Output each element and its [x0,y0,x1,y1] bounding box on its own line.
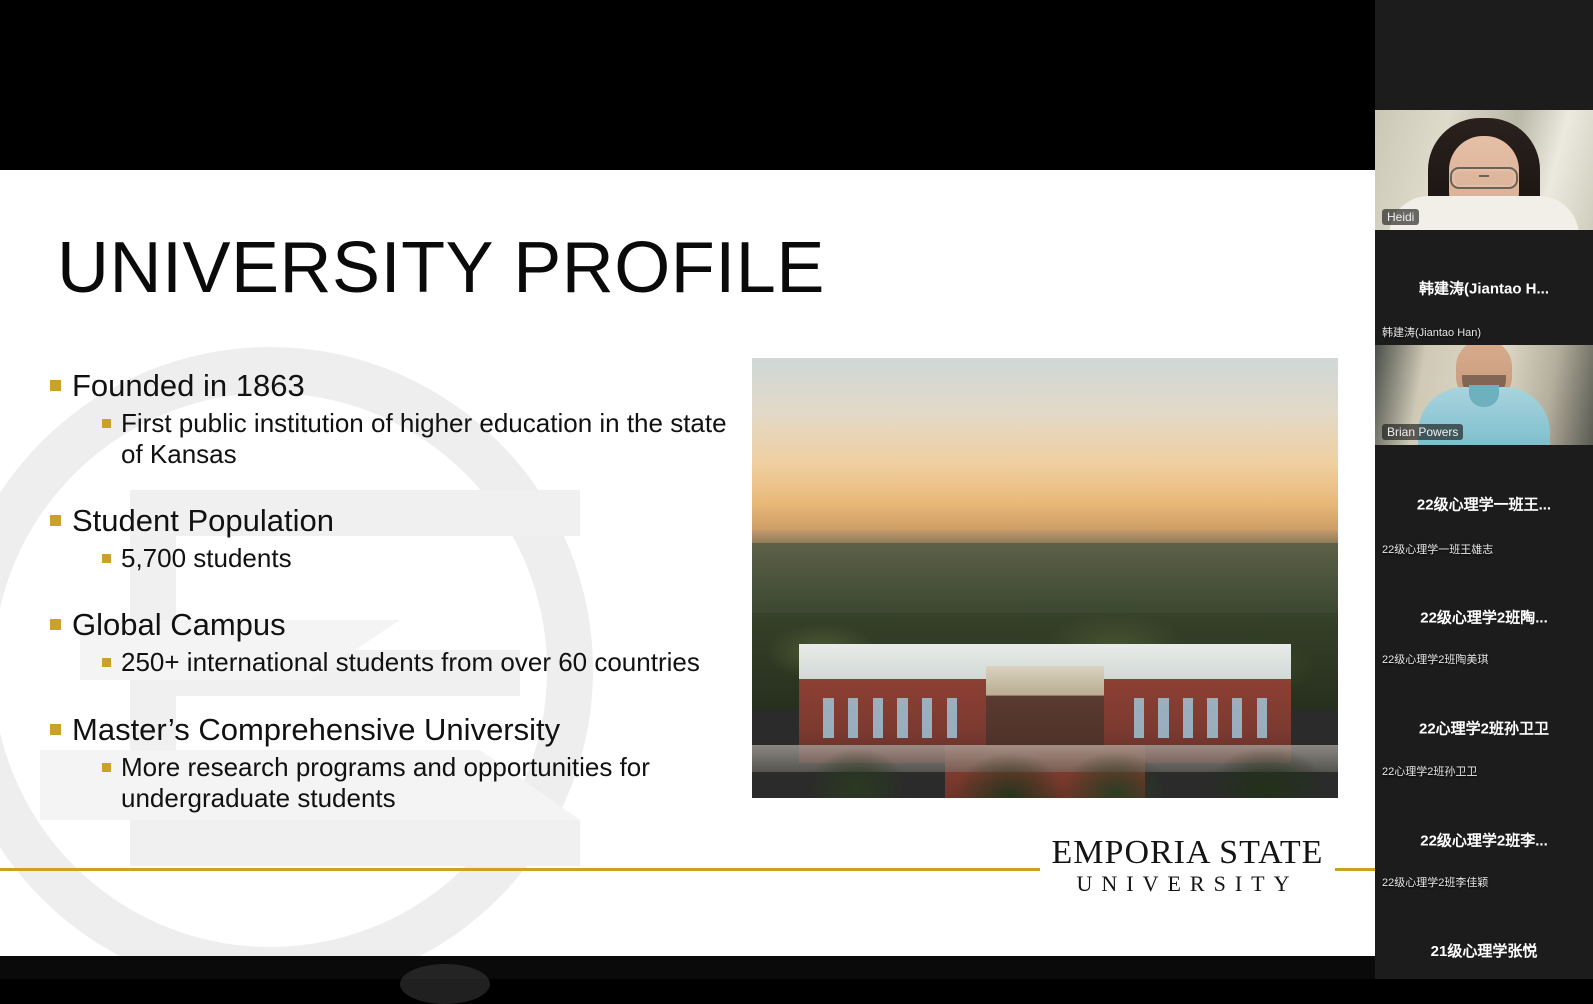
toolbar-hover-pill[interactable] [400,964,490,1004]
bullet-level2: 250+ international students from over 60… [102,647,750,678]
participant-center-name: 韩建涛(Jiantao H... [1375,277,1593,298]
slide-bullet-list: Founded in 1863 First public institution… [50,368,750,847]
participant-center-name: 22级心理学2班李... [1375,829,1593,850]
participant-tile-sunweiwei[interactable]: 22心理学2班孙卫卫 22心理学2班孙卫卫 [1375,672,1593,784]
participant-center-name: 22级心理学一班王... [1375,493,1593,514]
square-bullet-icon [102,658,111,667]
bullet-level1-text: Founded in 1863 [72,368,305,404]
logo-line-1: EMPORIA STATE [1050,836,1325,870]
participant-center-name: 22级心理学2班陶... [1375,607,1593,628]
participant-name-label: 22级心理学2班李佳颖 [1382,874,1488,890]
bullet-level2: First public institution of higher educa… [102,408,750,470]
square-bullet-icon [50,619,61,630]
participant-name-label: 22心理学2班孙卫卫 [1382,763,1477,779]
participant-tile-heidi[interactable]: Heidi [1375,110,1593,230]
square-bullet-icon [102,554,111,563]
participant-tile-zhangyue[interactable]: 21级心理学张悦 [1375,895,1593,979]
bullet-level1-text: Global Campus [72,607,286,643]
participant-tile-lijiaying[interactable]: 22级心理学2班李... 22级心理学2班李佳颖 [1375,784,1593,895]
logo-line-2: UNIVERSITY [1050,870,1325,898]
bullet-level2-text: 250+ international students from over 60… [121,647,700,678]
participant-center-name: 22心理学2班孙卫卫 [1375,718,1593,739]
participant-filmstrip[interactable]: Heidi 韩建涛(Jiantao H... 韩建涛(Jiantao Han) … [1375,0,1593,979]
participant-tile-jiantao-han[interactable]: 韩建涛(Jiantao H... 韩建涛(Jiantao Han) [1375,230,1593,345]
bullet-level1-text: Student Population [72,503,334,539]
square-bullet-icon [50,380,61,391]
participant-name-label: 22级心理学2班陶美琪 [1382,651,1488,667]
square-bullet-icon [50,515,61,526]
participant-name-label: 韩建涛(Jiantao Han) [1382,324,1481,340]
bullet-level1: Student Population [50,503,750,539]
bullet-level2: 5,700 students [102,543,750,574]
bullet-group: Founded in 1863 First public institution… [50,368,750,470]
participant-name-label: Heidi [1382,209,1419,225]
bullet-level1: Founded in 1863 [50,368,750,404]
bullet-level1-text: Master’s Comprehensive University [72,712,560,748]
bullet-level2: More research programs and opportunities… [102,752,750,814]
bullet-level2-text: 5,700 students [121,543,292,574]
bullet-group: Master’s Comprehensive University More r… [50,712,750,814]
bullet-group: Student Population 5,700 students [50,503,750,574]
participant-tile-wangxiongzhi[interactable]: 22级心理学一班王... 22级心理学一班王雄志 [1375,445,1593,562]
emporia-state-university-logo: EMPORIA STATE UNIVERSITY [1040,836,1335,898]
square-bullet-icon [102,763,111,772]
glasses-icon [1450,167,1518,189]
participant-tile-brian-powers[interactable]: Brian Powers [1375,345,1593,445]
bullet-level1: Master’s Comprehensive University [50,712,750,748]
square-bullet-icon [102,419,111,428]
participant-name-label: 22级心理学一班王雄志 [1382,541,1493,557]
campus-aerial-photo [752,358,1338,798]
participant-center-name: 21级心理学张悦 [1375,940,1593,961]
participant-tile-taomeiqi[interactable]: 22级心理学2班陶... 22级心理学2班陶美琪 [1375,562,1593,672]
bullet-group: Global Campus 250+ international student… [50,607,750,678]
bullet-level2-text: More research programs and opportunities… [121,752,750,814]
square-bullet-icon [50,724,61,735]
bullet-level1: Global Campus [50,607,750,643]
presentation-slide[interactable]: UNIVERSITY PROFILE Founded in 1863 First… [0,170,1375,956]
participant-name-label: Brian Powers [1382,424,1463,440]
photo-foreground-trees [752,701,1338,798]
page-title: UNIVERSITY PROFILE [57,232,825,304]
screen-share-stage[interactable]: UNIVERSITY PROFILE Founded in 1863 First… [0,0,1375,979]
meeting-toolbar[interactable] [0,956,1375,979]
photo-sky [752,358,1338,534]
zoom-meeting-window: UNIVERSITY PROFILE Founded in 1863 First… [0,0,1593,979]
bullet-level2-text: First public institution of higher educa… [121,408,750,470]
